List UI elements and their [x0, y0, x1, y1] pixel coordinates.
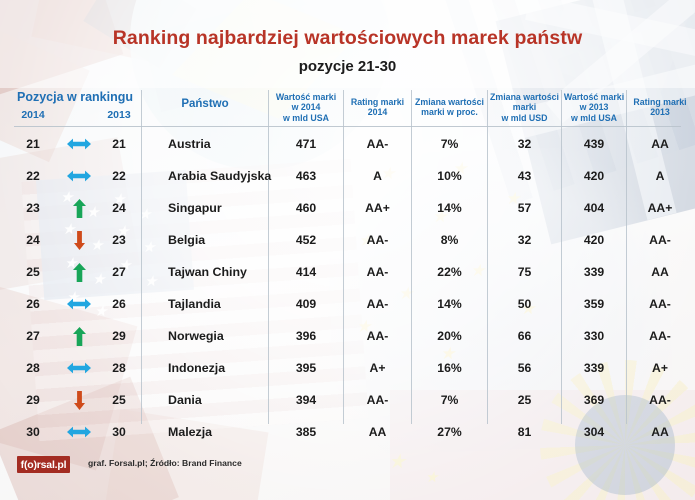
- cell-rating2014: AA-: [344, 288, 411, 320]
- trend-up-icon: [62, 256, 96, 288]
- cell-value2014: 395: [269, 352, 343, 384]
- cell-changeUsd: 75: [488, 256, 561, 288]
- cell-changeUsd: 57: [488, 192, 561, 224]
- cell-value2013: 420: [562, 160, 626, 192]
- cell-rating2014: AA-: [344, 224, 411, 256]
- cell-changeUsd: 66: [488, 320, 561, 352]
- cell-changePct: 16%: [412, 352, 487, 384]
- trend-flat-icon: [62, 128, 96, 160]
- cell-value2014: 385: [269, 416, 343, 448]
- cell-rank2013: 27: [94, 256, 144, 288]
- header-rating-2014-line1: Rating marki: [351, 97, 404, 107]
- cell-rank2014: 22: [8, 160, 58, 192]
- cell-changePct: 10%: [412, 160, 487, 192]
- header-value-2013-line2: w 2013: [580, 102, 609, 112]
- table-row: 2222Arabia Saudyjska463A10%43420A: [0, 160, 695, 192]
- cell-country: Singapur: [168, 192, 278, 224]
- cell-value2013: 439: [562, 128, 626, 160]
- table-row: 2626Tajlandia409AA-14%50359AA-: [0, 288, 695, 320]
- cell-changeUsd: 56: [488, 352, 561, 384]
- cell-rank2013: 25: [94, 384, 144, 416]
- header-change-usd-line3: w mld USD: [502, 113, 548, 123]
- cell-rank2013: 24: [94, 192, 144, 224]
- cell-rank2013: 22: [94, 160, 144, 192]
- cell-rating2013: AA-: [627, 288, 693, 320]
- header-change-usd: Zmiana wartości marki w mld USD: [488, 92, 561, 123]
- header-rank-2013: 2013: [94, 109, 144, 121]
- forsal-logo[interactable]: f(o)rsal.pl: [17, 456, 70, 473]
- header-value-2014: Wartość marki w 2014 w mld USA: [269, 92, 343, 123]
- header-value-2014-line1: Wartość marki: [276, 92, 336, 102]
- cell-rank2014: 24: [8, 224, 58, 256]
- header-change-pct: Zmiana wartości marki w proc.: [412, 97, 487, 118]
- cell-changePct: 27%: [412, 416, 487, 448]
- cell-changeUsd: 81: [488, 416, 561, 448]
- cell-changePct: 7%: [412, 128, 487, 160]
- cell-rating2013: A+: [627, 352, 693, 384]
- cell-rating2013: AA-: [627, 320, 693, 352]
- cell-country: Tajwan Chiny: [168, 256, 278, 288]
- header-change-usd-line1: Zmiana wartości: [490, 92, 559, 102]
- cell-value2014: 414: [269, 256, 343, 288]
- table-row: 2121Austria471AA-7%32439AA: [0, 128, 695, 160]
- header-rating-2013-line1: Rating marki: [633, 97, 686, 107]
- cell-value2013: 359: [562, 288, 626, 320]
- cell-country: Belgia: [168, 224, 278, 256]
- table-row: 2925Dania394AA-7%25369AA-: [0, 384, 695, 416]
- cell-rating2013: AA-: [627, 384, 693, 416]
- trend-flat-icon: [62, 352, 96, 384]
- cell-rating2013: A: [627, 160, 693, 192]
- cell-rank2014: 23: [8, 192, 58, 224]
- cell-country: Dania: [168, 384, 278, 416]
- cell-rank2013: 23: [94, 224, 144, 256]
- cell-rank2013: 28: [94, 352, 144, 384]
- cell-changePct: 20%: [412, 320, 487, 352]
- cell-rating2014: AA-: [344, 320, 411, 352]
- cell-value2013: 304: [562, 416, 626, 448]
- page-title: Ranking najbardziej wartościowych marek …: [0, 27, 695, 50]
- cell-country: Arabia Saudyjska: [168, 160, 278, 192]
- cell-changeUsd: 25: [488, 384, 561, 416]
- cell-value2014: 409: [269, 288, 343, 320]
- header-value-2014-line3: w mld USA: [283, 113, 329, 123]
- trend-flat-icon: [62, 416, 96, 448]
- header-country: Państwo: [142, 98, 268, 112]
- table-row: 2729Norwegia396AA-20%66330AA-: [0, 320, 695, 352]
- cell-changePct: 22%: [412, 256, 487, 288]
- cell-value2013: 330: [562, 320, 626, 352]
- cell-rating2014: A: [344, 160, 411, 192]
- cell-changePct: 8%: [412, 224, 487, 256]
- cell-rank2013: 21: [94, 128, 144, 160]
- cell-rank2014: 28: [8, 352, 58, 384]
- cell-rank2014: 25: [8, 256, 58, 288]
- cell-country: Tajlandia: [168, 288, 278, 320]
- cell-changeUsd: 32: [488, 128, 561, 160]
- cell-value2013: 339: [562, 256, 626, 288]
- header-rating-2013: Rating marki 2013: [627, 97, 693, 118]
- trend-flat-icon: [62, 288, 96, 320]
- cell-value2013: 420: [562, 224, 626, 256]
- cell-country: Norwegia: [168, 320, 278, 352]
- cell-value2014: 463: [269, 160, 343, 192]
- cell-rating2013: AA: [627, 256, 693, 288]
- cell-country: Malezja: [168, 416, 278, 448]
- table-row: 2527Tajwan Chiny414AA-22%75339AA: [0, 256, 695, 288]
- cell-value2013: 369: [562, 384, 626, 416]
- cell-rank2013: 30: [94, 416, 144, 448]
- cell-rating2013: AA: [627, 416, 693, 448]
- cell-value2014: 394: [269, 384, 343, 416]
- cell-rating2013: AA-: [627, 224, 693, 256]
- cell-rating2013: AA: [627, 128, 693, 160]
- cell-value2014: 471: [269, 128, 343, 160]
- trend-up-icon: [62, 192, 96, 224]
- cell-changePct: 7%: [412, 384, 487, 416]
- cell-rank2014: 27: [8, 320, 58, 352]
- header-change-pct-line1: Zmiana wartości: [415, 97, 484, 107]
- cell-rating2014: AA: [344, 416, 411, 448]
- cell-rating2014: AA-: [344, 384, 411, 416]
- cell-country: Austria: [168, 128, 278, 160]
- header-rank-2014: 2014: [8, 109, 58, 121]
- cell-rank2014: 26: [8, 288, 58, 320]
- footer: f(o)rsal.pl graf. Forsal.pl; Źródło: Bra…: [0, 448, 695, 500]
- cell-country: Indonezja: [168, 352, 278, 384]
- header-rating-2014: Rating marki 2014: [344, 97, 411, 118]
- header-rank-group: Pozycja w rankingu: [8, 90, 142, 105]
- header-change-pct-line2: marki w proc.: [421, 107, 478, 117]
- cell-value2014: 396: [269, 320, 343, 352]
- trend-down-icon: [62, 224, 96, 256]
- header-value-2014-line2: w 2014: [292, 102, 321, 112]
- cell-rank2014: 30: [8, 416, 58, 448]
- header-rating-2013-line2: 2013: [650, 107, 670, 117]
- cell-rating2014: AA+: [344, 192, 411, 224]
- cell-value2014: 460: [269, 192, 343, 224]
- cell-rank2013: 26: [94, 288, 144, 320]
- cell-changePct: 14%: [412, 288, 487, 320]
- trend-down-icon: [62, 384, 96, 416]
- table-header-row: Pozycja w rankingu 2014 2013 Państwo War…: [0, 88, 695, 128]
- table-row: 2324Singapur460AA+14%57404AA+: [0, 192, 695, 224]
- header-value-2013: Wartość marki w 2013 w mld USA: [562, 92, 626, 123]
- page-subtitle: pozycje 21-30: [0, 58, 695, 75]
- table-row: 3030Malezja385AA27%81304AA: [0, 416, 695, 448]
- cell-rating2014: AA-: [344, 128, 411, 160]
- header-change-usd-line2: marki: [513, 102, 536, 112]
- cell-value2013: 404: [562, 192, 626, 224]
- cell-changePct: 14%: [412, 192, 487, 224]
- table-row: 2423Belgia452AA-8%32420AA-: [0, 224, 695, 256]
- source-credit: graf. Forsal.pl; Źródło: Brand Finance: [88, 458, 242, 468]
- header-value-2013-line3: w mld USA: [571, 113, 617, 123]
- cell-value2014: 452: [269, 224, 343, 256]
- header-rating-2014-line2: 2014: [368, 107, 388, 117]
- cell-changeUsd: 43: [488, 160, 561, 192]
- cell-changeUsd: 32: [488, 224, 561, 256]
- cell-rating2014: AA-: [344, 256, 411, 288]
- header-value-2013-line1: Wartość marki: [564, 92, 624, 102]
- cell-rank2014: 29: [8, 384, 58, 416]
- infographic-canvas: ★ ★ ★ ★ ★ ★ ★ ★ ★ ★ ★ ★ ★ ★ ★ ★ ★ ★ ★ ★ …: [0, 0, 695, 500]
- cell-changeUsd: 50: [488, 288, 561, 320]
- trend-flat-icon: [62, 160, 96, 192]
- cell-rank2014: 21: [8, 128, 58, 160]
- cell-rank2013: 29: [94, 320, 144, 352]
- cell-value2013: 339: [562, 352, 626, 384]
- cell-rating2014: A+: [344, 352, 411, 384]
- trend-up-icon: [62, 320, 96, 352]
- table-row: 2828Indonezja395A+16%56339A+: [0, 352, 695, 384]
- cell-rating2013: AA+: [627, 192, 693, 224]
- table-body: 2121Austria471AA-7%32439AA2222Arabia Sau…: [0, 128, 695, 448]
